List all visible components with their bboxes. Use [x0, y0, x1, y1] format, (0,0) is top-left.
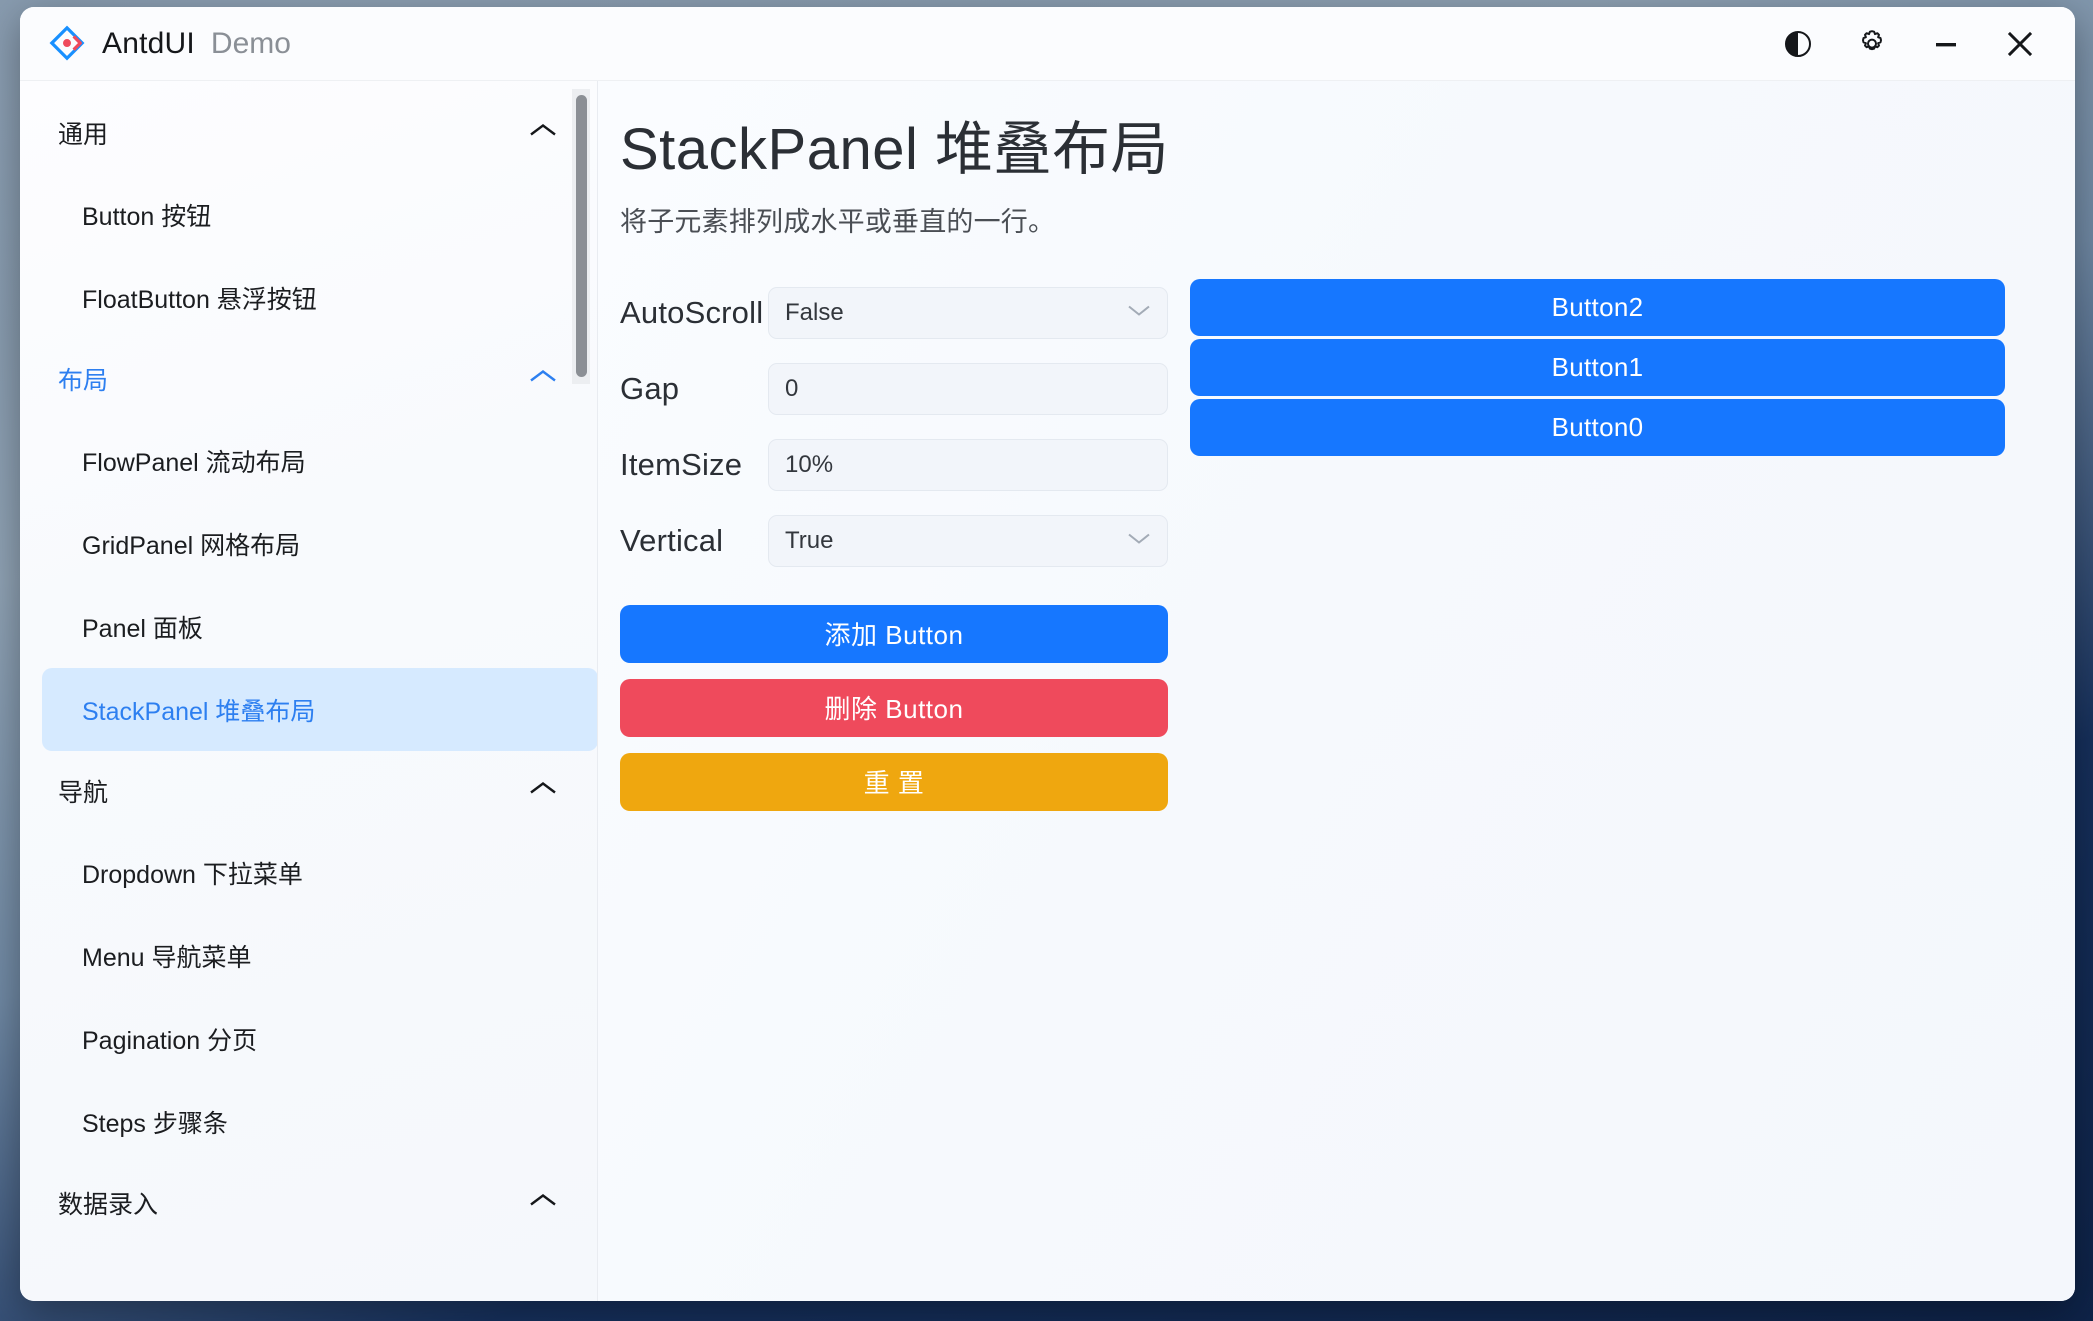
app-title: AntdUI	[102, 27, 195, 61]
sidebar-item-stackpanel[interactable]: StackPanel 堆叠布局	[42, 668, 598, 751]
sidebar-item-button[interactable]: Button 按钮	[20, 173, 588, 256]
sidebar-item-label: FlowPanel 流动布局	[82, 443, 306, 479]
sidebar-item-label: Pagination 分页	[82, 1021, 257, 1057]
main-content: StackPanel 堆叠布局 将子元素排列成水平或垂直的一行。 AutoScr…	[598, 80, 2075, 1301]
itemsize-input[interactable]: 10%	[768, 439, 1168, 491]
page-title: StackPanel 堆叠布局	[620, 117, 2005, 184]
sidebar-group-label: 布局	[58, 361, 108, 397]
window-body: 通用 Button 按钮 FloatButton 悬浮按钮 布局	[20, 80, 2075, 1301]
brand: AntdUI Demo	[20, 25, 291, 63]
chevron-down-icon[interactable]	[1127, 531, 1151, 550]
field-label: AutoScroll	[620, 295, 768, 331]
field-gap: Gap 0	[620, 351, 1168, 427]
settings-button[interactable]	[1835, 13, 1909, 75]
sidebar-scroll-content[interactable]: 通用 Button 按钮 FloatButton 悬浮按钮 布局	[20, 81, 598, 1301]
stack-button-label: Button2	[1552, 292, 1644, 323]
chevron-up-icon[interactable]	[528, 368, 558, 391]
vertical-value: True	[785, 527, 833, 555]
sidebar-group-label: 数据录入	[58, 1185, 158, 1221]
sidebar-item-label: Panel 面板	[82, 609, 203, 645]
close-button[interactable]	[1983, 13, 2057, 75]
titlebar-actions	[1761, 13, 2075, 75]
delete-button-action[interactable]: 删除 Button	[620, 679, 1168, 737]
field-vertical: Vertical True	[620, 503, 1168, 579]
gear-icon	[1855, 27, 1889, 61]
sidebar-group-layout[interactable]: 布局	[20, 339, 598, 419]
sidebar-group-general[interactable]: 通用	[20, 93, 598, 173]
field-label: Gap	[620, 371, 768, 407]
sidebar-item-label: FloatButton 悬浮按钮	[82, 280, 317, 316]
field-label: Vertical	[620, 523, 768, 559]
sidebar-item-menu[interactable]: Menu 导航菜单	[20, 914, 588, 997]
chevron-up-icon[interactable]	[528, 122, 558, 145]
sidebar-item-label: GridPanel 网格布局	[82, 526, 300, 562]
sidebar-item-steps[interactable]: Steps 步骤条	[20, 1080, 588, 1163]
title-bar: AntdUI Demo	[20, 7, 2075, 80]
stack-button-0[interactable]: Button0	[1190, 399, 2005, 456]
sidebar-group-label: 导航	[58, 773, 108, 809]
field-label: ItemSize	[620, 447, 768, 483]
gap-value: 0	[785, 375, 798, 403]
sidebar-item-dropdown[interactable]: Dropdown 下拉菜单	[20, 831, 588, 914]
field-itemsize: ItemSize 10%	[620, 427, 1168, 503]
page-subtitle: 将子元素排列成水平或垂直的一行。	[620, 200, 2005, 239]
vertical-select[interactable]: True	[768, 515, 1168, 567]
gap-input[interactable]: 0	[768, 363, 1168, 415]
sidebar-item-panel[interactable]: Panel 面板	[20, 585, 588, 668]
stackpanel-preview: Button2 Button1 Button0	[1190, 275, 2005, 811]
sidebar-group-label: 通用	[58, 115, 108, 151]
sidebar-item-pagination[interactable]: Pagination 分页	[20, 997, 588, 1080]
settings-form: AutoScroll False Gap 0	[620, 275, 1168, 811]
sidebar-item-flowpanel[interactable]: FlowPanel 流动布局	[20, 419, 588, 502]
sidebar-item-label: Dropdown 下拉菜单	[82, 855, 303, 891]
minimize-button[interactable]	[1909, 13, 1983, 75]
stack-button-label: Button0	[1552, 412, 1644, 443]
delete-button-label: 删除 Button	[825, 689, 964, 726]
sidebar-item-label: StackPanel 堆叠布局	[82, 692, 315, 728]
add-button-action[interactable]: 添加 Button	[620, 605, 1168, 663]
sidebar-item-label: Steps 步骤条	[82, 1104, 228, 1140]
close-icon	[2002, 26, 2038, 62]
demo-area: AutoScroll False Gap 0	[620, 275, 2005, 811]
sidebar-scrollbar[interactable]	[568, 89, 590, 1269]
theme-toggle-button[interactable]	[1761, 13, 1835, 75]
autoscroll-value: False	[785, 299, 844, 327]
sidebar-group-navigation[interactable]: 导航	[20, 751, 598, 831]
autoscroll-select[interactable]: False	[768, 287, 1168, 339]
half-circle-contrast-icon	[1782, 28, 1814, 60]
sidebar-group-data-entry[interactable]: 数据录入	[20, 1163, 598, 1243]
chevron-up-icon[interactable]	[528, 780, 558, 803]
stack-button-2[interactable]: Button2	[1190, 279, 2005, 336]
scrollbar-thumb[interactable]	[576, 95, 587, 377]
app-title-suffix: Demo	[211, 27, 291, 61]
sidebar-item-gridpanel[interactable]: GridPanel 网格布局	[20, 502, 588, 585]
stack-button-1[interactable]: Button1	[1190, 339, 2005, 396]
chevron-down-icon[interactable]	[1127, 303, 1151, 322]
reset-button-label: 重 置	[864, 763, 925, 800]
sidebar: 通用 Button 按钮 FloatButton 悬浮按钮 布局	[20, 80, 598, 1301]
antd-diamond-logo-icon	[48, 25, 86, 63]
minimize-icon	[1929, 27, 1963, 61]
stack-button-label: Button1	[1552, 352, 1644, 383]
app-window: AntdUI Demo	[20, 7, 2075, 1301]
reset-button-action[interactable]: 重 置	[620, 753, 1168, 811]
sidebar-item-label: Button 按钮	[82, 197, 211, 233]
field-autoscroll: AutoScroll False	[620, 275, 1168, 351]
add-button-label: 添加 Button	[825, 615, 964, 652]
sidebar-item-label: Menu 导航菜单	[82, 938, 251, 974]
itemsize-value: 10%	[785, 451, 833, 479]
chevron-up-icon[interactable]	[528, 1192, 558, 1215]
sidebar-item-floatbutton[interactable]: FloatButton 悬浮按钮	[20, 256, 588, 339]
